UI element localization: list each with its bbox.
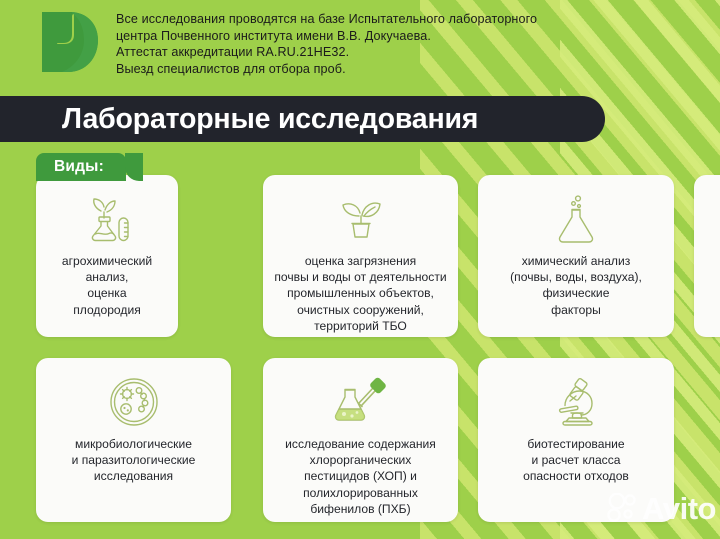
- card-line: исследования: [72, 468, 196, 484]
- service-card-text: микробиологические и паразитологические …: [64, 436, 204, 485]
- intro-line-3: Аттестат аккредитации RA.RU.21НЕ32.: [116, 44, 636, 61]
- microscope-icon: [549, 374, 603, 430]
- card-line: хлорорганических: [285, 452, 436, 468]
- service-card-pesticides[interactable]: исследование содержания хлорорганических…: [263, 358, 458, 522]
- poster-root: Все исследования проводятся на базе Испы…: [0, 0, 720, 539]
- erlenmeyer-flask-bubbles-icon: [554, 191, 598, 247]
- card-line: микробиологические: [72, 436, 196, 452]
- service-card-microbiology[interactable]: микробиологические и паразитологические …: [36, 358, 231, 522]
- card-line: и расчет класса: [523, 452, 629, 468]
- card-line: факторы: [510, 302, 642, 318]
- card-line: оценка: [62, 285, 152, 301]
- types-tab: Виды:: [36, 153, 126, 181]
- leaf-logo: [40, 10, 100, 78]
- petri-dish-microbes-icon: [108, 374, 160, 430]
- card-line: и паразитологические: [72, 452, 196, 468]
- service-card-pollution-assessment[interactable]: оценка загрязнения почвы и воды от деяте…: [263, 175, 458, 337]
- card-line: оценка загрязнения: [274, 253, 446, 269]
- card-line: агрохимический: [62, 253, 152, 269]
- card-line: очистных сооружений,: [274, 302, 446, 318]
- card-line: плодородия: [62, 302, 152, 318]
- intro-line-1: Все исследования проводятся на базе Испы…: [116, 11, 636, 28]
- service-card-biotesting[interactable]: биотестирование и расчет класса опасност…: [478, 358, 674, 522]
- card-line: химический анализ: [510, 253, 642, 269]
- title-banner: Лабораторные исследования: [0, 96, 605, 142]
- service-card-text: оценка загрязнения почвы и воды от деяте…: [268, 253, 452, 334]
- card-line: (почвы, воды, воздуха),: [510, 269, 642, 285]
- intro-line-2: центра Почвенного института имени В.В. Д…: [116, 28, 636, 45]
- service-card-text: биотестирование и расчет класса опасност…: [515, 436, 637, 485]
- card-line: анализ,: [62, 269, 152, 285]
- card-line: территорий ТБО: [274, 318, 446, 334]
- flask-pipette-icon: [333, 374, 389, 430]
- types-tab-label: Виды:: [54, 158, 104, 176]
- intro-text: Все исследования проводятся на базе Испы…: [116, 11, 636, 77]
- service-card-text: исследование содержания хлорорганических…: [279, 436, 442, 517]
- card-line: пестицидов (ХОП) и: [285, 468, 436, 484]
- service-card-text: агрохимический анализ, оценка плодородия: [54, 253, 160, 318]
- card-line: бифенилов (ПХБ): [285, 501, 436, 517]
- service-card-agrochemical[interactable]: агрохимический анализ, оценка плодородия: [36, 175, 178, 337]
- card-line: исследование содержания: [285, 436, 436, 452]
- sprout-pot-icon: [334, 191, 388, 247]
- card-line: промышленных объектов,: [274, 285, 446, 301]
- intro-line-4: Выезд специалистов для отбора проб.: [116, 61, 636, 78]
- card-line: физические: [510, 285, 642, 301]
- service-card-chemical-analysis[interactable]: химический анализ (почвы, воды, воздуха)…: [478, 175, 674, 337]
- card-line: биотестирование: [523, 436, 629, 452]
- service-card-partial[interactable]: [694, 175, 720, 337]
- page-title: Лабораторные исследования: [62, 103, 478, 136]
- card-line: опасности отходов: [523, 468, 629, 484]
- service-card-text: химический анализ (почвы, воды, воздуха)…: [502, 253, 650, 318]
- card-line: полихлорированных: [285, 485, 436, 501]
- flask-sprout-testtube-icon: [82, 191, 132, 247]
- card-line: почвы и воды от деятельности: [274, 269, 446, 285]
